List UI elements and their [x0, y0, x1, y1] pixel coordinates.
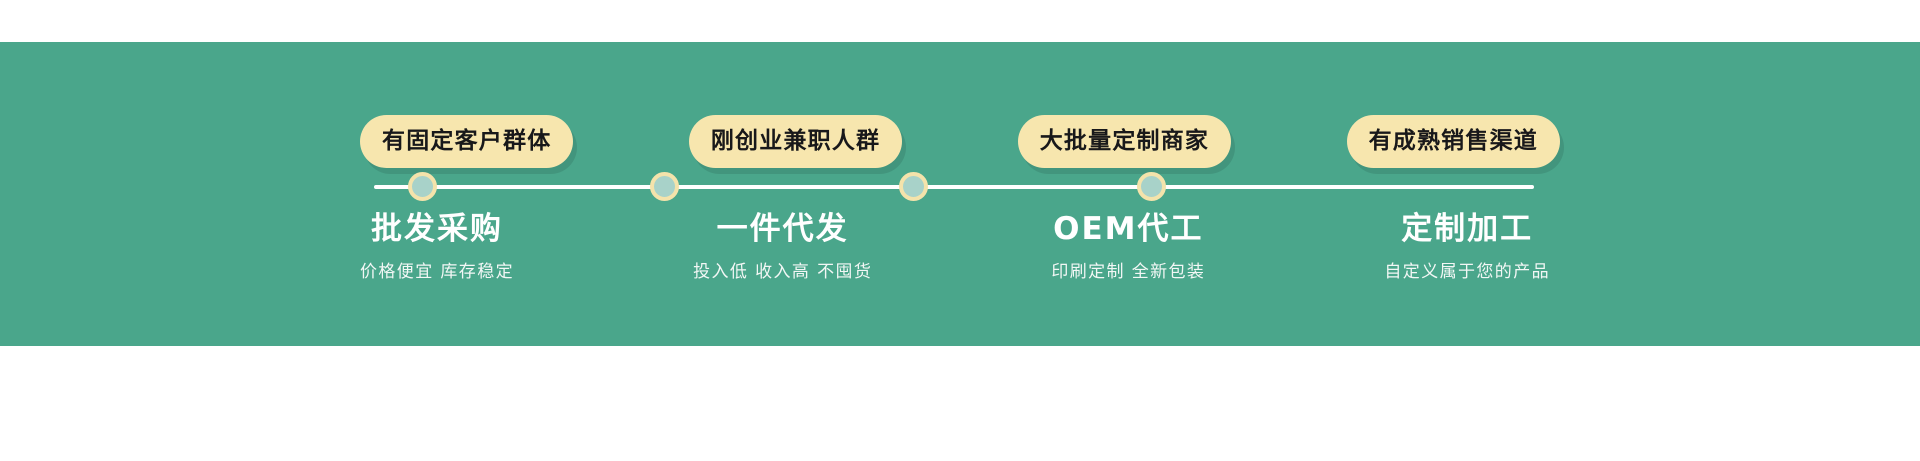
audience-pill-2[interactable]: 刚创业兼职人群 [689, 115, 902, 168]
audience-pill-1-label: 有固定客户群体 [382, 130, 551, 153]
audience-pill-1[interactable]: 有固定客户群体 [360, 115, 573, 168]
timeline-line [374, 185, 1534, 189]
audience-pill-3-label: 大批量定制商家 [1040, 130, 1209, 153]
service-column-1: 批发采购 价格便宜 库存稳定 [360, 212, 514, 282]
audience-pill-2-label: 刚创业兼职人群 [711, 130, 880, 153]
service-subtitle-4: 自定义属于您的产品 [1384, 263, 1550, 282]
service-subtitle-1: 价格便宜 库存稳定 [360, 263, 514, 282]
service-title-4: 定制加工 [1401, 212, 1533, 246]
green-banner: 有固定客户群体 刚创业兼职人群 大批量定制商家 有成熟销售渠道 [0, 42, 1920, 346]
timeline-dot-2[interactable] [650, 172, 679, 201]
service-column-4: 定制加工 自定义属于您的产品 [1384, 212, 1550, 282]
service-columns: 批发采购 价格便宜 库存稳定 一件代发 投入低 收入高 不囤货 OEM代工 印刷… [360, 212, 1550, 322]
service-column-3: OEM代工 印刷定制 全新包装 [1051, 212, 1205, 282]
service-title-1: 批发采购 [371, 212, 503, 246]
service-column-2: 一件代发 投入低 收入高 不囤货 [693, 212, 872, 282]
service-title-2: 一件代发 [717, 212, 849, 246]
timeline-dot-1[interactable] [408, 172, 437, 201]
audience-pill-4[interactable]: 有成熟销售渠道 [1347, 115, 1560, 168]
timeline-dot-4[interactable] [1137, 172, 1166, 201]
audience-pill-3[interactable]: 大批量定制商家 [1018, 115, 1231, 168]
banner-inner: 有固定客户群体 刚创业兼职人群 大批量定制商家 有成熟销售渠道 [0, 42, 1920, 346]
timeline-dot-3[interactable] [899, 172, 928, 201]
service-title-3: OEM代工 [1053, 212, 1203, 246]
audience-pill-4-label: 有成熟销售渠道 [1369, 130, 1538, 153]
service-subtitle-2: 投入低 收入高 不囤货 [693, 263, 872, 282]
banner-stage: 有固定客户群体 刚创业兼职人群 大批量定制商家 有成熟销售渠道 [0, 0, 1920, 461]
timeline [374, 172, 1534, 202]
audience-pill-row: 有固定客户群体 刚创业兼职人群 大批量定制商家 有成熟销售渠道 [360, 102, 1560, 180]
service-subtitle-3: 印刷定制 全新包装 [1051, 263, 1205, 282]
